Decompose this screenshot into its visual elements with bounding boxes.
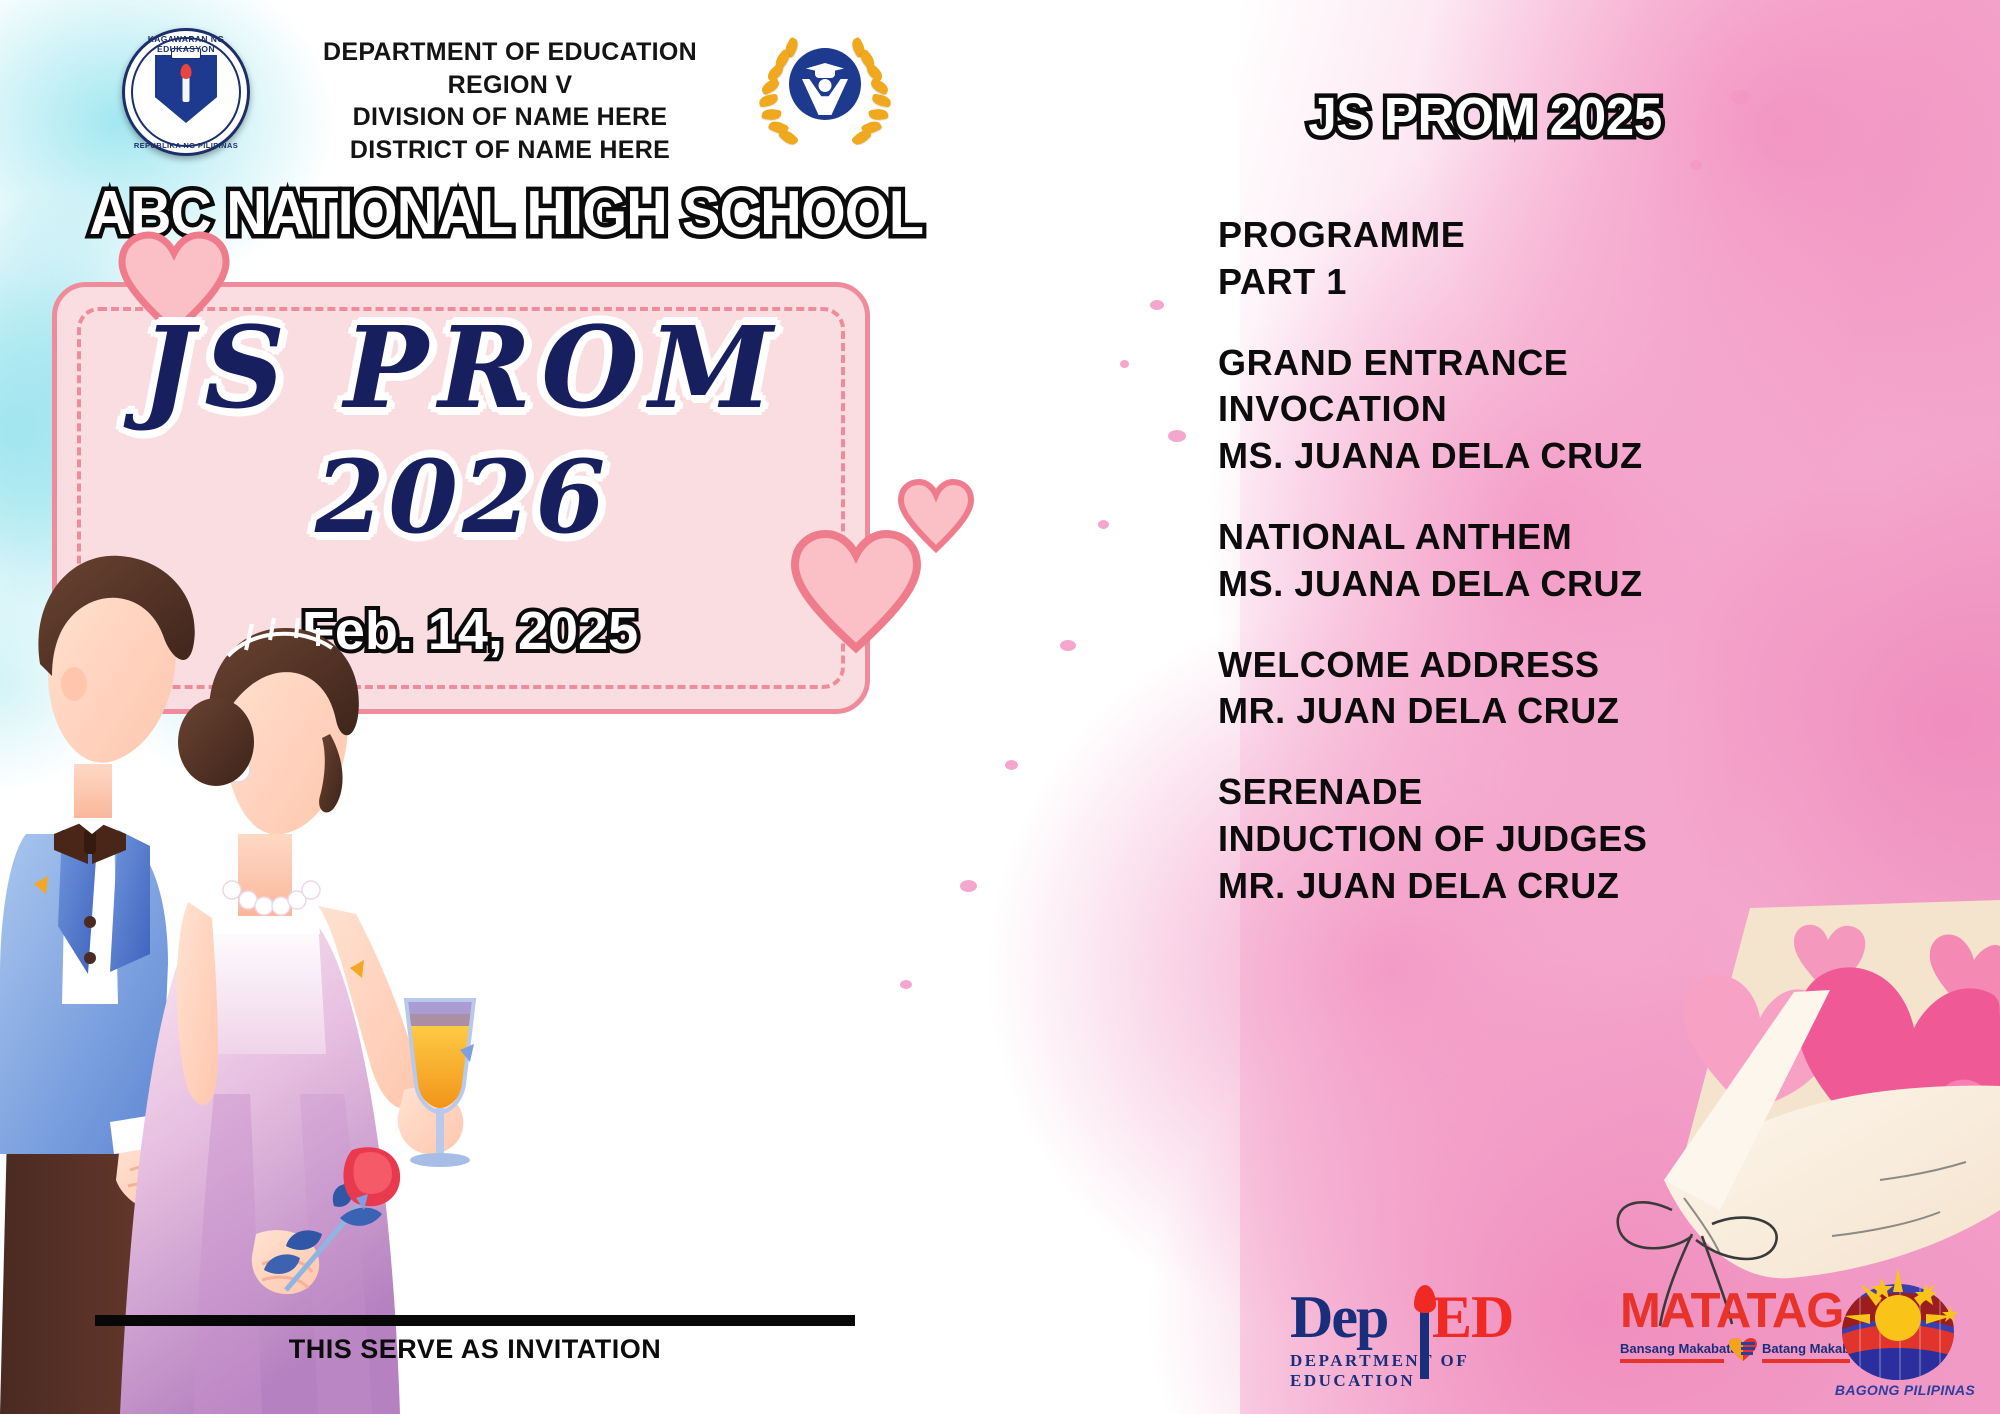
deped-seal-icon: KAGAWARAN NG EDUKASYON REPUBLIKA NG PILI… — [122, 28, 250, 156]
prom-invitation-poster: KAGAWARAN NG EDUKASYON REPUBLIKA NG PILI… — [0, 0, 2000, 1414]
programme-item: INDUCTION OF JUDGES — [1218, 816, 1858, 863]
dept-line-1: DEPARTMENT OF EDUCATION — [270, 36, 750, 69]
programme-item: INVOCATION — [1218, 386, 1858, 433]
dept-line-2: REGION V — [270, 69, 750, 102]
heart-decoration-small — [898, 480, 974, 552]
dept-line-4: DISTRICT OF NAME HERE — [270, 134, 750, 167]
programme-item: MS. JUANA DELA CRUZ — [1218, 433, 1858, 480]
seal-top-text: KAGAWARAN NG EDUKASYON — [122, 34, 250, 54]
seal-bottom-text: REPUBLIKA NG PILIPINAS — [122, 141, 250, 150]
paint-speck — [1005, 760, 1018, 770]
matatag-rule-left — [1620, 1359, 1724, 1363]
paint-speck — [1150, 300, 1164, 310]
programme-item: NATIONAL ANTHEM — [1218, 514, 1858, 561]
paint-speck — [1060, 640, 1076, 651]
graduate-figure-icon — [789, 48, 861, 120]
programme-list: PROGRAMME PART 1 GRAND ENTRANCE INVOCATI… — [1218, 212, 1858, 910]
matatag-tagline-left: Bansang Makabata — [1620, 1341, 1738, 1356]
programme-spacer — [1218, 480, 1858, 514]
paint-speck — [960, 880, 977, 892]
paint-speck — [900, 980, 912, 989]
programme-title: JS PROM 2025 — [1219, 86, 1751, 148]
prom-card-title: JS PROM — [62, 312, 862, 426]
programme-item: PART 1 — [1218, 259, 1858, 306]
programme-item: GRAND ENTRANCE — [1218, 340, 1858, 387]
programme-item: MR. JUAN DELA CRUZ — [1218, 863, 1858, 910]
programme-item: PROGRAMME — [1218, 212, 1858, 259]
prom-couple-illustration — [0, 534, 560, 1414]
deped-ed-text: ED — [1432, 1283, 1513, 1352]
paint-speck — [1168, 430, 1186, 442]
programme-spacer — [1218, 735, 1858, 769]
programme-item: MS. JUANA DELA CRUZ — [1218, 561, 1858, 608]
paint-speck — [1690, 160, 1702, 170]
programme-item: WELCOME ADDRESS — [1218, 642, 1858, 689]
invitation-note: THIS SERVE AS INVITATION — [95, 1334, 855, 1365]
bagong-pilipinas-logo: BAGONG PILIPINAS — [1830, 1262, 1980, 1408]
dept-line-3: DIVISION OF NAME HERE — [270, 101, 750, 134]
matatag-logo: MATATAG Bansang Makabata Batang Makabans… — [1620, 1283, 1850, 1369]
matatag-wordmark: MATATAG — [1620, 1283, 1843, 1339]
programme-item: MR. JUAN DELA CRUZ — [1218, 688, 1858, 735]
deped-subtitle: DEPARTMENT OF EDUCATION — [1290, 1351, 1570, 1391]
paint-speck — [1098, 520, 1109, 529]
paint-speck — [1120, 360, 1129, 368]
programme-spacer — [1218, 608, 1858, 642]
deped-dep-text: Dep — [1290, 1283, 1387, 1352]
programme-item: SERENADE — [1218, 769, 1858, 816]
footer-divider — [95, 1315, 855, 1326]
matatag-heart-icon — [1728, 1338, 1758, 1362]
deped-wordmark-logo: Dep ED DEPARTMENT OF EDUCATION — [1290, 1283, 1620, 1379]
bagong-pilipinas-label: BAGONG PILIPINAS — [1830, 1382, 1980, 1398]
programme-spacer — [1218, 306, 1858, 340]
department-heading: DEPARTMENT OF EDUCATION REGION V DIVISIO… — [270, 36, 750, 166]
school-logo-icon — [750, 30, 900, 156]
